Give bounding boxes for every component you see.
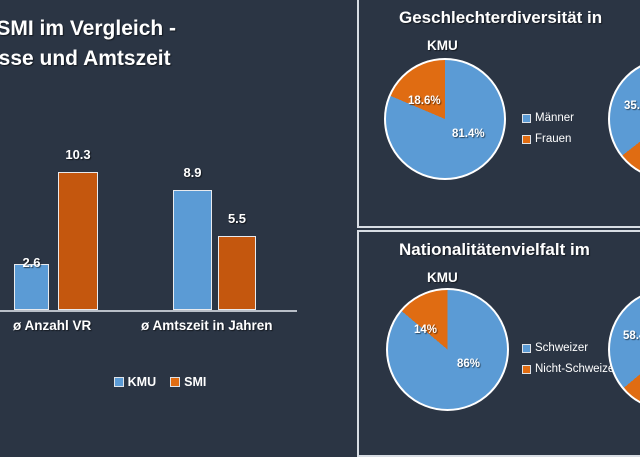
bar-value-label-smi-amtszeit: 5.5	[215, 211, 259, 226]
legend-swatch-kmu	[114, 377, 124, 387]
bar-chart-plot-area	[0, 120, 352, 312]
legend-swatch-maenner	[522, 114, 531, 123]
legend-item-frauen[interactable]: Frauen	[522, 133, 574, 145]
bar-value-label-kmu-amtszeit: 8.9	[170, 165, 215, 180]
gender-panel-title: Geschlechterdiversität in	[399, 8, 640, 28]
legend-swatch-schweizer	[522, 344, 531, 353]
legend-label-smi: SMI	[184, 375, 206, 389]
legend-item-maenner[interactable]: Männer	[522, 112, 574, 124]
legend-item-smi[interactable]: SMI	[170, 375, 206, 389]
legend-swatch-nicht-schweizer	[522, 365, 531, 374]
nationality-kmu-schweizer-value: 86%	[457, 358, 480, 370]
nationality-kmu-subtitle: KMU	[427, 270, 458, 285]
nationality-legend: Schweizer Nicht-Schweizer	[522, 342, 618, 384]
bar-value-label-smi-anzahl-vr: 10.3	[55, 147, 101, 162]
bar-category-label-amtszeit: ø Amtszeit in Jahren	[141, 318, 273, 333]
legend-item-nicht-schweizer[interactable]: Nicht-Schweizer	[522, 363, 618, 375]
legend-item-kmu[interactable]: KMU	[114, 375, 156, 389]
nationality-smi-nicht-schweizer-value: 58.4	[623, 330, 640, 342]
bar-smi-amtszeit[interactable]	[218, 236, 256, 310]
nationality-panel: Nationalitätenvielfalt im KMU 14% 86% Sc…	[357, 230, 640, 457]
gender-diversity-panel: Geschlechterdiversität in KMU 18.6% 81.4…	[357, 0, 640, 228]
legend-item-schweizer[interactable]: Schweizer	[522, 342, 618, 354]
legend-label-kmu: KMU	[128, 375, 156, 389]
legend-swatch-smi	[170, 377, 180, 387]
legend-label-schweizer: Schweizer	[535, 342, 588, 354]
nationality-kmu-nicht-schweizer-value: 14%	[414, 324, 437, 336]
slide-root: und SMI im Vergleich - dgrösse und Amtsz…	[0, 0, 640, 455]
legend-label-nicht-schweizer: Nicht-Schweizer	[535, 363, 618, 375]
bar-chart-axis-line	[0, 310, 297, 312]
bar-chart-panel: und SMI im Vergleich - dgrösse und Amtsz…	[0, 0, 352, 455]
bar-chart-title: und SMI im Vergleich - dgrösse und Amtsz…	[0, 14, 352, 75]
gender-smi-pie-chart[interactable]	[608, 58, 640, 180]
bar-kmu-anzahl-vr[interactable]	[14, 264, 49, 310]
bar-chart-legend: KMU SMI	[0, 375, 320, 389]
bar-smi-anzahl-vr[interactable]	[58, 172, 98, 310]
bar-category-label-anzahl-vr: ø Anzahl VR	[13, 318, 91, 333]
nationality-smi-pie-chart[interactable]	[608, 288, 640, 411]
nationality-panel-title: Nationalitätenvielfalt im	[399, 240, 640, 260]
gender-kmu-subtitle: KMU	[427, 38, 458, 53]
gender-smi-frauen-value: 35.4	[624, 100, 640, 112]
nationality-kmu-pie-chart[interactable]	[386, 288, 509, 411]
legend-label-maenner: Männer	[535, 112, 574, 124]
legend-swatch-frauen	[522, 135, 531, 144]
gender-legend: Männer Frauen	[522, 112, 574, 154]
bar-value-label-kmu-anzahl-vr: 2.6	[9, 255, 54, 270]
bar-kmu-amtszeit[interactable]	[173, 190, 212, 310]
gender-kmu-maenner-value: 81.4%	[452, 128, 485, 140]
gender-kmu-pie-chart[interactable]	[384, 58, 506, 180]
gender-kmu-frauen-value: 18.6%	[408, 95, 441, 107]
legend-label-frauen: Frauen	[535, 133, 571, 145]
